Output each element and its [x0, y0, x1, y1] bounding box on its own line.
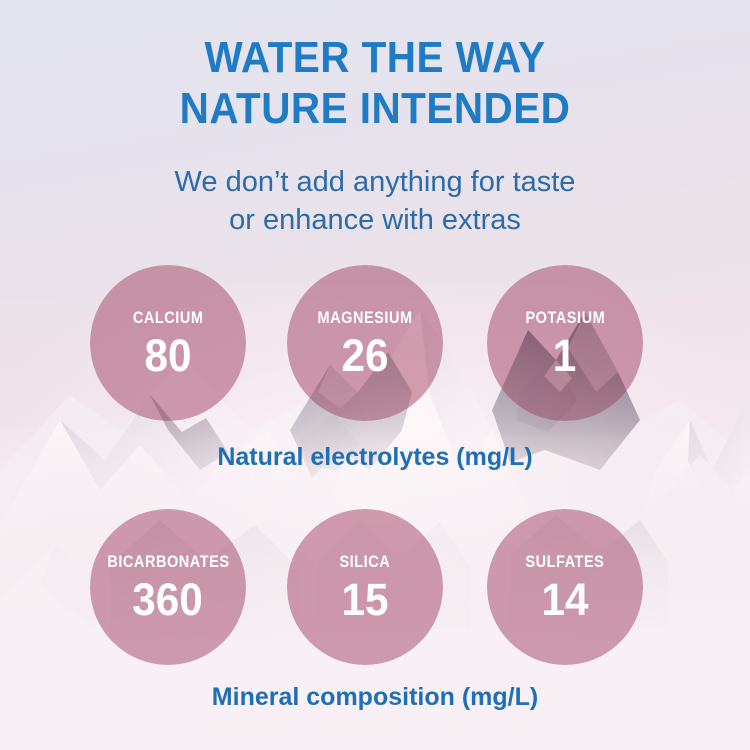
bubble-label: CALCIUM	[133, 309, 204, 328]
mineral-bubble-bicarbonates: BICARBONATES 360	[90, 509, 246, 665]
subheadline-line-2: or enhance with extras	[0, 201, 750, 239]
mineral-bubble-silica: SILICA 15	[287, 509, 443, 665]
electrolytes-caption: Natural electrolytes (mg/L)	[0, 443, 750, 472]
bubble-value: 360	[133, 577, 204, 622]
minerals-bubble-row: BICARBONATES 360 SILICA 15 SULFATES 14	[0, 509, 750, 669]
subheadline-line-1: We don’t add anything for taste	[0, 163, 750, 201]
mineral-bubble-sulfates: SULFATES 14	[487, 509, 643, 665]
mineral-bubble-magnesium: MAGNESIUM 26	[287, 265, 443, 421]
bubble-label: SULFATES	[526, 553, 605, 572]
bubble-value: 26	[341, 333, 388, 378]
poster-subheadline: We don’t add anything for taste or enhan…	[0, 163, 750, 240]
bubble-label: POTASIUM	[525, 309, 605, 328]
bubble-label: BICARBONATES	[107, 553, 229, 572]
electrolytes-bubble-row: CALCIUM 80 MAGNESIUM 26 POTASIUM 1	[0, 265, 750, 425]
bubble-value: 14	[541, 577, 588, 622]
mineral-bubble-potasium: POTASIUM 1	[487, 265, 643, 421]
bubble-label: SILICA	[340, 553, 391, 572]
mineral-bubble-calcium: CALCIUM 80	[90, 265, 246, 421]
bubble-value: 1	[553, 333, 577, 378]
minerals-caption: Mineral composition (mg/L)	[0, 683, 750, 712]
headline-line-2: NATURE INTENDED	[30, 87, 720, 131]
bubble-value: 15	[341, 577, 388, 622]
poster-headline: WATER THE WAY NATURE INTENDED	[0, 36, 750, 131]
headline-line-1: WATER THE WAY	[30, 36, 720, 80]
bubble-label: MAGNESIUM	[317, 309, 412, 328]
poster-canvas: WATER THE WAY NATURE INTENDED We don’t a…	[0, 0, 750, 750]
bubble-value: 80	[144, 333, 191, 378]
